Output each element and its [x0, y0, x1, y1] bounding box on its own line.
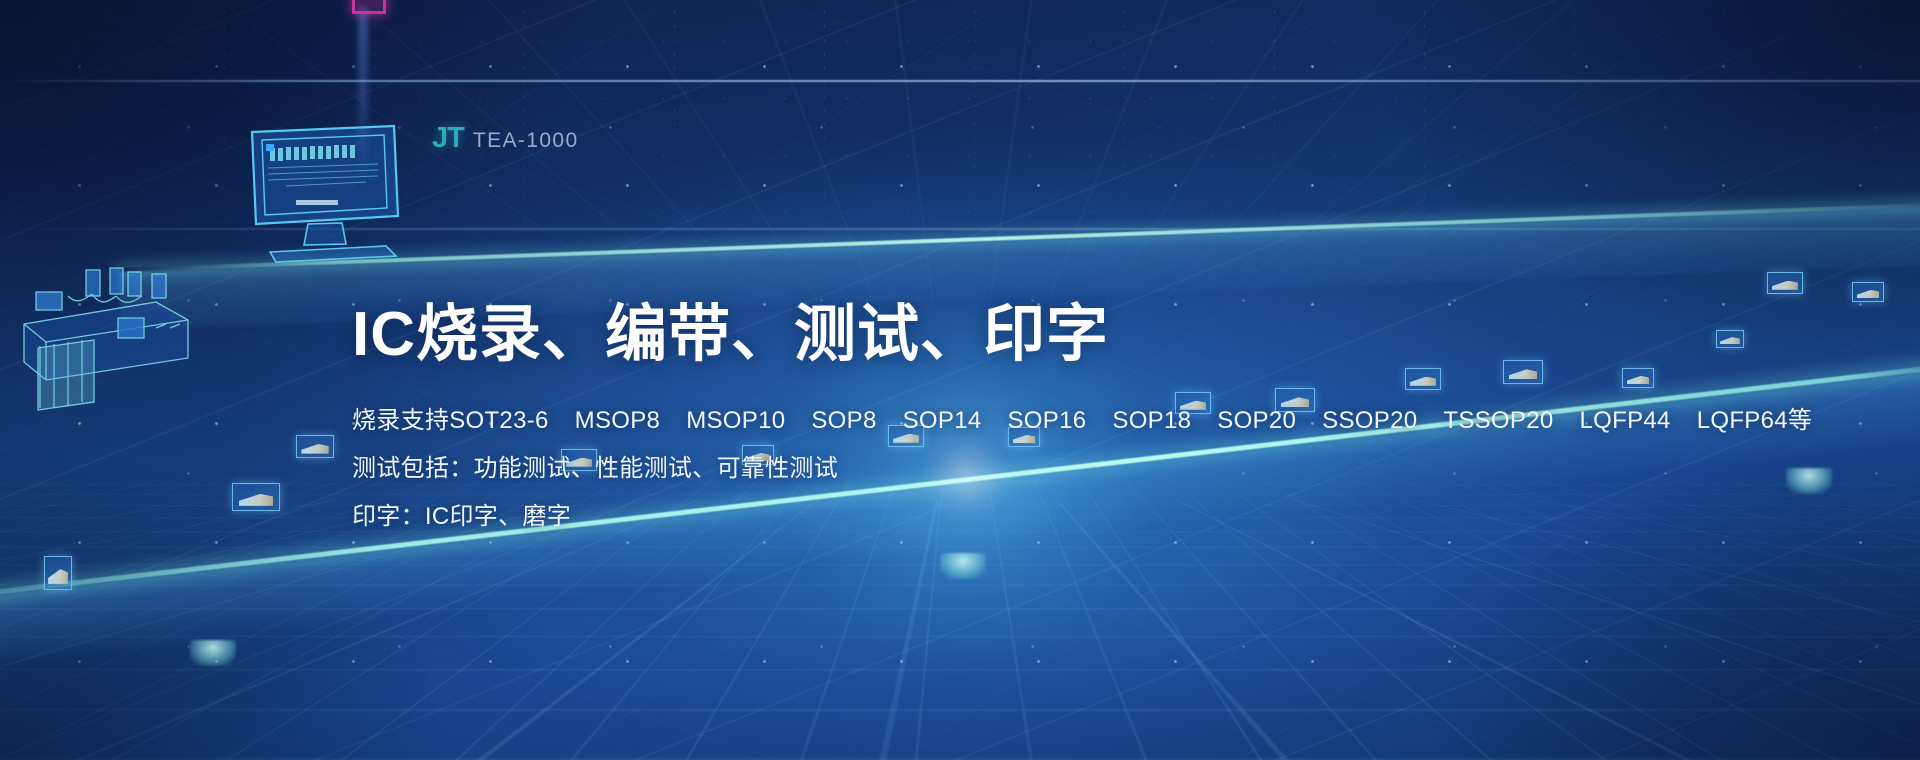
- chip-tray-icon: [296, 435, 334, 458]
- horizon-line-upper: [0, 80, 1920, 82]
- package-item: SOP18: [1112, 409, 1191, 433]
- chip-tray-icon: [44, 556, 72, 590]
- chip-tray-icon: [1767, 272, 1803, 294]
- brand-lockup: JT TEA-1000: [432, 122, 579, 155]
- subline-burn-support: 烧录支持SOT23-6MSOP8MSOP10SOP8SOP14SOP16SOP1…: [352, 409, 1612, 433]
- brand-mark-jt: JT: [432, 122, 464, 155]
- package-item: LQFP44: [1580, 409, 1671, 433]
- package-item: TSSOP20: [1443, 409, 1553, 433]
- industrial-handler-illustration: [6, 262, 196, 452]
- page-title: IC烧录、编带、测试、印字: [352, 300, 1612, 369]
- brand-model-name: TEA-1000: [473, 129, 579, 153]
- package-item: SOP14: [903, 409, 982, 433]
- chip-tray-icon: [1716, 330, 1744, 348]
- package-item: SOP8: [811, 409, 876, 433]
- package-item: MSOP10: [686, 409, 785, 433]
- package-list: MSOP8MSOP10SOP8SOP14SOP16SOP18SOP20SSOP2…: [575, 407, 1813, 434]
- package-item: SOP16: [1008, 409, 1087, 433]
- hero-banner: JT TEA-1000 IC烧录、编带、测试、印字 烧录支持SOT23-6MSO…: [0, 0, 1920, 760]
- burn-support-lead: 烧录支持SOT23-6: [352, 409, 549, 433]
- chip-tray-icon: [1622, 368, 1654, 388]
- package-item: SSOP20: [1322, 409, 1417, 433]
- rail-support-mid: [940, 553, 986, 579]
- package-item: MSOP8: [575, 409, 661, 433]
- package-item: SOP20: [1217, 409, 1296, 433]
- operator-monitor-illustration: [246, 124, 421, 264]
- package-item: LQFP64等: [1697, 409, 1812, 433]
- marker-light-beam: [358, 8, 368, 188]
- chip-tray-icon: [1852, 282, 1884, 302]
- hero-text-block: IC烧录、编带、测试、印字 烧录支持SOT23-6MSOP8MSOP10SOP8…: [352, 300, 1612, 529]
- rail-support-right: [1786, 468, 1832, 494]
- rail-support-left: [190, 640, 236, 666]
- subline-testing: 测试包括：功能测试、性能测试、可靠性测试: [352, 457, 1612, 481]
- subline-printing: 印字：IC印字、磨字: [352, 505, 1612, 529]
- magenta-marker: [352, 0, 386, 14]
- chip-tray-icon: [232, 483, 280, 511]
